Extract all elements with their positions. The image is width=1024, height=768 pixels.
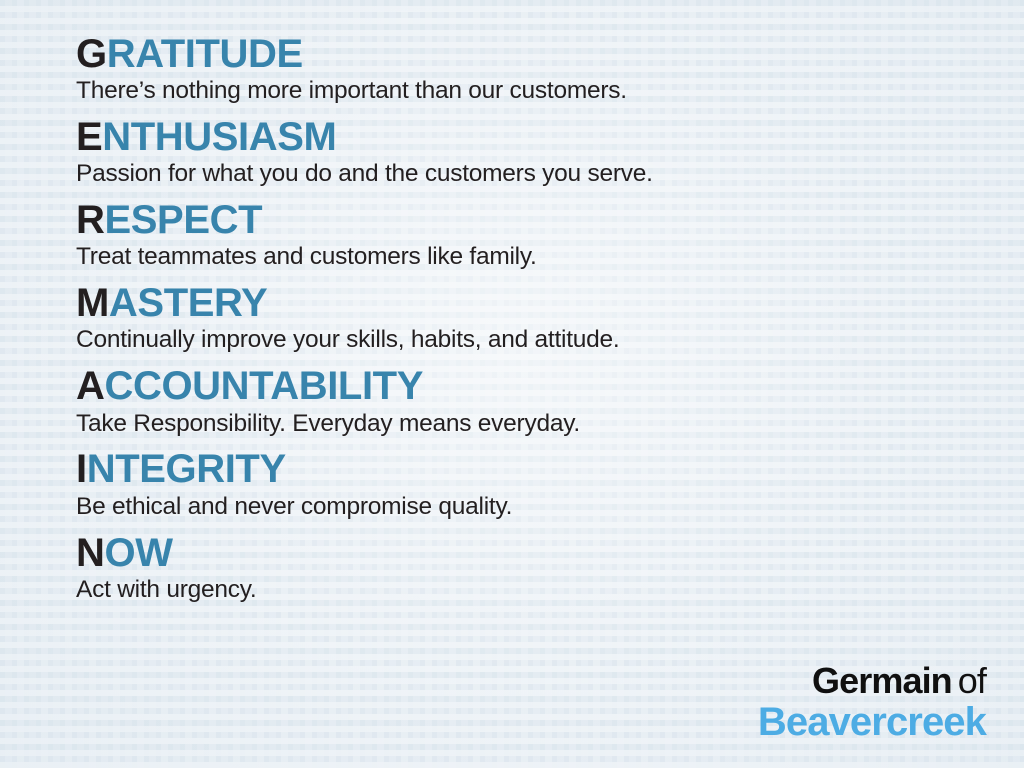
value-heading: RESPECT (76, 200, 1024, 241)
value-rest: CCOUNTABILITY (105, 364, 423, 408)
value-rest: ASTERY (109, 281, 267, 325)
logo-location: Beavercreek (758, 702, 986, 742)
value-rest: NTHUSIASM (102, 115, 336, 159)
logo-brand-name: Germain (812, 660, 952, 701)
value-item-enthusiasm: ENTHUSIASM Passion for what you do and t… (76, 117, 1024, 189)
value-item-integrity: INTEGRITY Be ethical and never compromis… (76, 449, 1024, 521)
value-initial: I (76, 447, 87, 491)
value-description: Take Responsibility. Everyday means ever… (76, 410, 1024, 439)
logo-top-line: Germainof (758, 663, 986, 699)
value-heading: ENTHUSIASM (76, 117, 1024, 158)
values-list: GRATITUDE There’s nothing more important… (0, 0, 1024, 768)
value-item-gratitude: GRATITUDE There’s nothing more important… (76, 34, 1024, 106)
value-heading: INTEGRITY (76, 449, 1024, 490)
value-rest: OW (105, 531, 173, 575)
value-heading: ACCOUNTABILITY (76, 366, 1024, 407)
value-initial: R (76, 198, 105, 242)
value-rest: ESPECT (105, 198, 263, 242)
value-item-accountability: ACCOUNTABILITY Take Responsibility. Ever… (76, 366, 1024, 438)
value-initial: M (76, 281, 109, 325)
value-rest: RATITUDE (107, 32, 303, 76)
value-heading: NOW (76, 533, 1024, 574)
value-description: There’s nothing more important than our … (76, 77, 1024, 106)
value-initial: E (76, 115, 102, 159)
dealership-logo: Germainof Beavercreek (758, 663, 986, 742)
value-rest: NTEGRITY (87, 447, 286, 491)
value-item-respect: RESPECT Treat teammates and customers li… (76, 200, 1024, 272)
value-initial: A (76, 364, 105, 408)
value-item-now: NOW Act with urgency. (76, 533, 1024, 605)
value-item-mastery: MASTERY Continually improve your skills,… (76, 283, 1024, 355)
values-poster: GRATITUDE There’s nothing more important… (0, 0, 1024, 768)
value-description: Passion for what you do and the customer… (76, 160, 1024, 189)
logo-connector: of (958, 660, 986, 701)
value-initial: N (76, 531, 105, 575)
value-description: Treat teammates and customers like famil… (76, 243, 1024, 272)
value-description: Act with urgency. (76, 576, 1024, 605)
value-heading: GRATITUDE (76, 34, 1024, 75)
value-description: Continually improve your skills, habits,… (76, 326, 1024, 355)
value-heading: MASTERY (76, 283, 1024, 324)
value-initial: G (76, 32, 107, 76)
value-description: Be ethical and never compromise quality. (76, 493, 1024, 522)
